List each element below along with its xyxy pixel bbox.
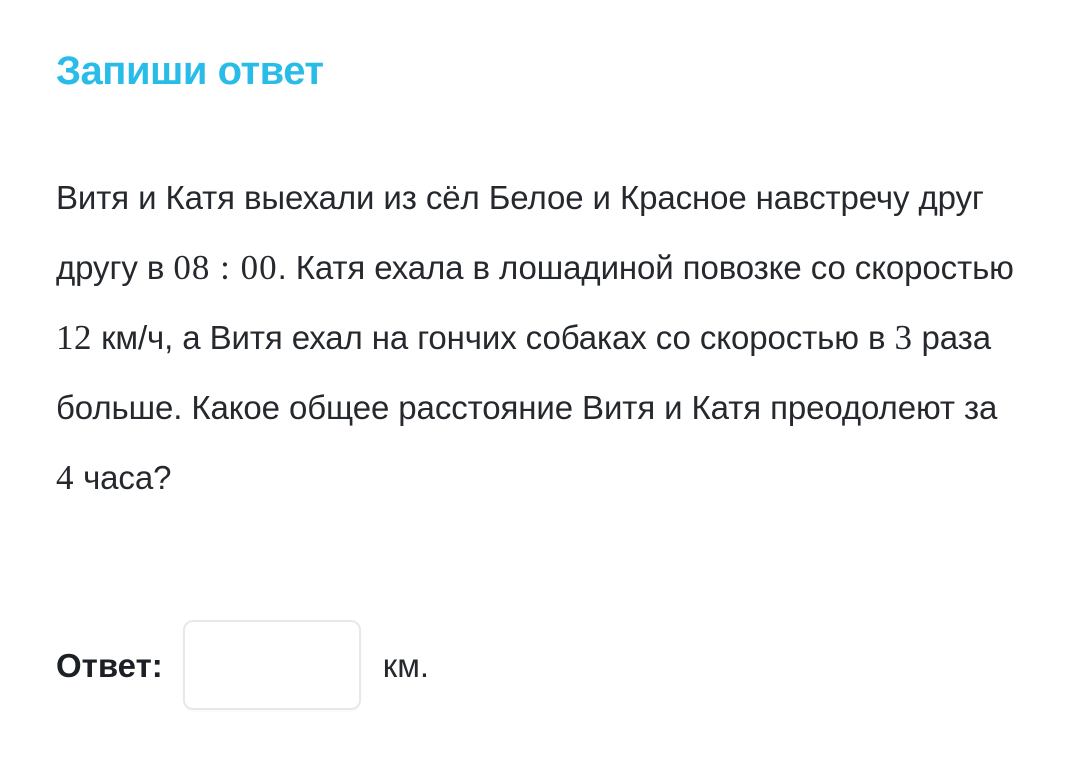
answer-row: Ответ: км. (56, 617, 429, 713)
question-multiplier-value: 3 (894, 318, 912, 357)
answer-label: Ответ: (56, 649, 163, 682)
question-text: Витя и Катя выехали из сёл Белое и Красн… (56, 163, 1016, 513)
page-title: Запиши ответ (56, 48, 324, 94)
question-time-value: 08 : 00 (173, 248, 277, 287)
question-part-2: . Катя ехала в лошадиной повозке со скор… (278, 249, 1014, 286)
question-part-3: км/ч, а Витя ехал на гончих собаках со с… (92, 319, 894, 356)
answer-unit-label: км. (383, 649, 429, 682)
question-hours-value: 4 (56, 458, 74, 497)
question-speed-katya-value: 12 (56, 318, 92, 357)
task-page: Запиши ответ Витя и Катя выехали из сёл … (0, 0, 1069, 767)
question-part-5: часа? (74, 459, 171, 496)
answer-input[interactable] (183, 620, 361, 710)
